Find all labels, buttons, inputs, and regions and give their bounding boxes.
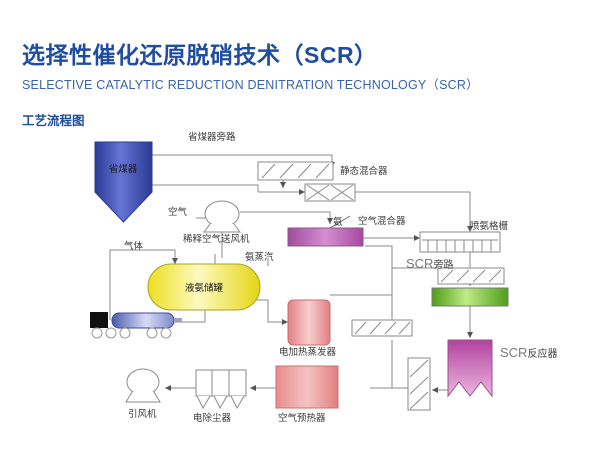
label-scr-reactor-prefix: SCR bbox=[500, 345, 527, 360]
ammonia-injection-grid-unit bbox=[420, 232, 500, 252]
electrostatic-precipitator-unit bbox=[196, 370, 246, 408]
liquid-ammonia-tank-unit: 液氨储罐 bbox=[148, 264, 260, 310]
label-scr-reactor: SCR反应器 bbox=[500, 345, 557, 360]
label-ammonia: 氨 bbox=[333, 214, 343, 228]
label-air: 空气 bbox=[168, 204, 187, 218]
damper-bypass-lower bbox=[352, 320, 412, 336]
label-ammonia-vapor: 氨蒸汽 bbox=[245, 249, 274, 263]
economizer-unit: 省煤器 bbox=[95, 142, 152, 222]
label-electric-heater-evaporator: 电加热蒸发器 bbox=[279, 344, 336, 358]
label-electrostatic-precipitator: 电除尘器 bbox=[193, 410, 231, 424]
scr-reactor-unit bbox=[448, 340, 492, 396]
label-static-mixer: 静态混合器 bbox=[340, 163, 388, 177]
label-air-mixer: 空气混合器 bbox=[358, 213, 406, 227]
pipe-eco-out-1 bbox=[152, 185, 258, 192]
liquid-ammonia-tank-label: 液氨储罐 bbox=[185, 282, 224, 294]
pipe-fan-to-mixer bbox=[240, 212, 330, 224]
damper-reactor-outlet bbox=[408, 358, 430, 410]
label-ammonia-injection-grid: 喷氨格栅 bbox=[470, 218, 508, 232]
dilution-air-fan-unit bbox=[204, 201, 240, 232]
damper-economizer-bypass bbox=[258, 162, 333, 180]
label-air-preheater: 空气预热器 bbox=[278, 410, 326, 424]
static-mixer-unit bbox=[305, 184, 355, 201]
label-induced-draft-fan: 引风机 bbox=[128, 406, 157, 420]
catalyst-layer-unit bbox=[432, 288, 508, 306]
pipe-nh3-vapor bbox=[330, 246, 392, 295]
economizer-label: 省煤器 bbox=[109, 163, 138, 175]
label-scr-bypass-suffix: 旁路 bbox=[433, 260, 453, 271]
process-flow-diagram: 省煤器 bbox=[0, 0, 600, 450]
ammonia-air-mixer-unit bbox=[288, 216, 363, 246]
air-preheater-unit bbox=[276, 366, 338, 408]
label-gas: 气体 bbox=[124, 238, 143, 252]
label-scr-bypass-prefix: SCR bbox=[406, 256, 433, 271]
label-economizer-bypass: 省煤器旁路 bbox=[188, 129, 236, 143]
electric-heater-evaporator-unit bbox=[288, 300, 330, 345]
label-dilution-air-fan: 稀释空气送风机 bbox=[183, 231, 250, 245]
slide-canvas: 选择性催化还原脱硝技术（SCR） SELECTIVE CATALYTIC RED… bbox=[0, 0, 600, 450]
induced-draft-fan-unit bbox=[126, 369, 160, 402]
label-scr-bypass: SCR旁路 bbox=[406, 256, 453, 271]
tanker-truck bbox=[90, 312, 182, 338]
label-scr-reactor-suffix: 反应器 bbox=[527, 349, 557, 360]
